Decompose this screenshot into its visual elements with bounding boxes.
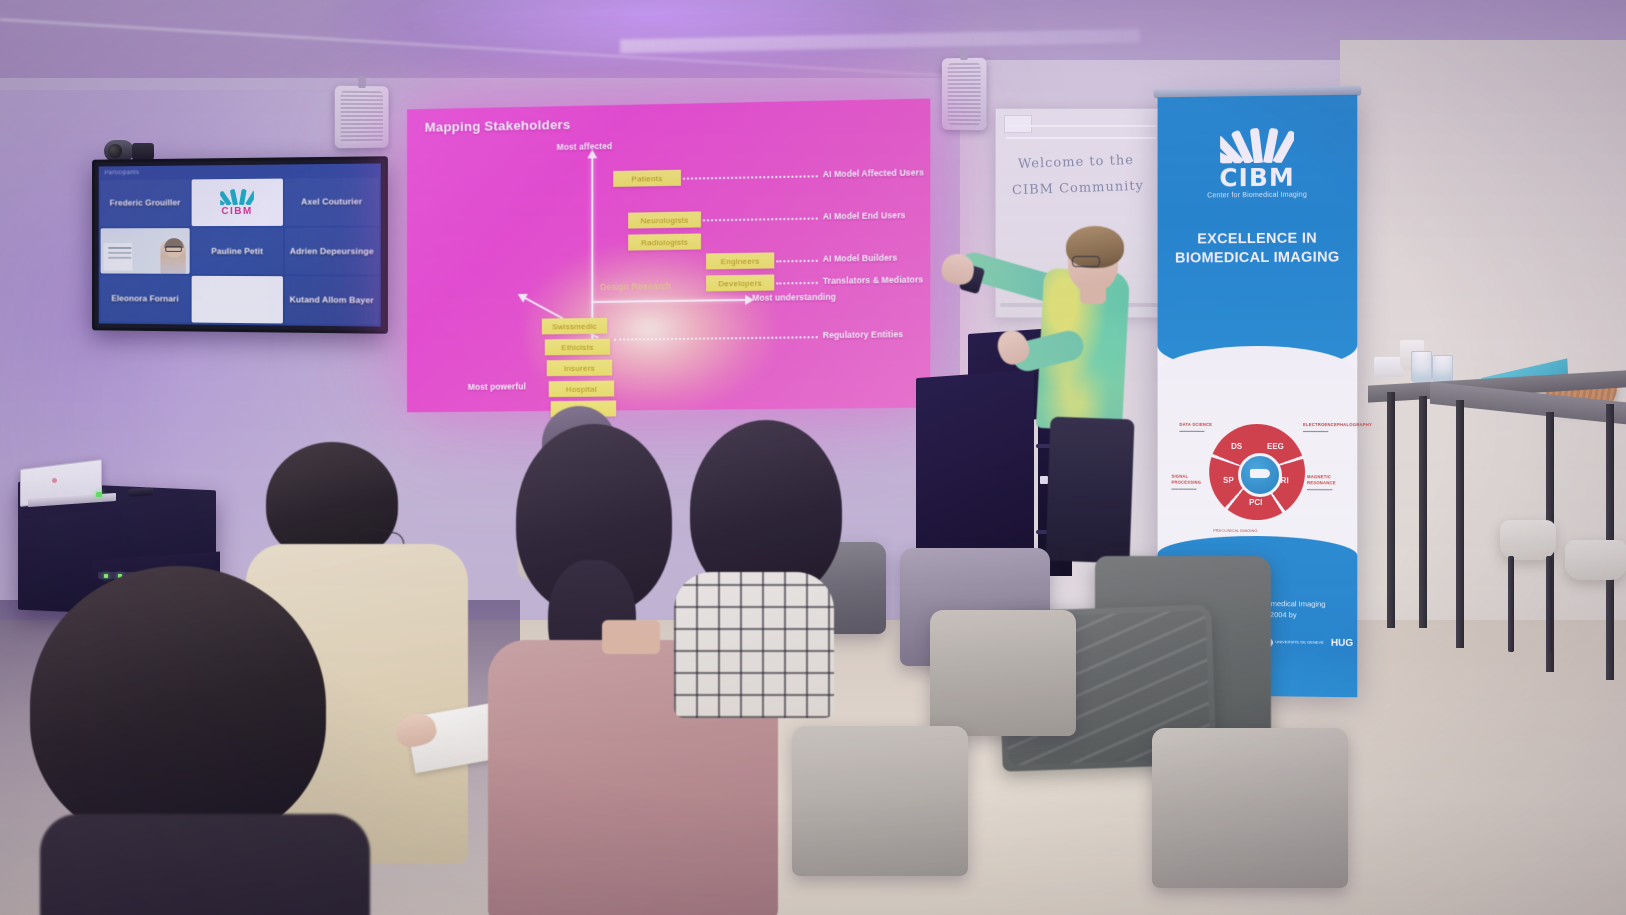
cibm-logo-subtitle: Center for Biomedical Imaging xyxy=(1207,192,1307,200)
document-lines xyxy=(108,247,131,249)
sticky-note-radiologists: Radiologists xyxy=(628,233,701,250)
category-label-affected-users: AI Model Affected Users xyxy=(823,167,924,179)
participant-name: Eleonora Fornari xyxy=(109,294,180,303)
speaker-mount xyxy=(358,76,366,88)
sticky-note-swissmedic: Swissmedic xyxy=(542,318,607,335)
participant-name: Pauline Petit xyxy=(209,247,265,256)
empty-chair[interactable] xyxy=(792,726,968,876)
wheel-label-pci: PCI xyxy=(1249,498,1262,507)
participant-tile[interactable]: Pauline Petit xyxy=(192,228,283,275)
high-table-leg xyxy=(1456,400,1464,648)
camera-lens-icon xyxy=(108,144,122,158)
leader-line-builders xyxy=(776,260,817,264)
high-table-leg xyxy=(1387,392,1395,628)
projected-slide: Mapping Stakeholders Most affected Most … xyxy=(407,99,930,413)
audience-neck xyxy=(602,620,660,654)
participant-tile[interactable]: Frederic Grouiller xyxy=(101,179,190,226)
sticky-note-engineers: Engineers xyxy=(706,252,774,269)
axis-label-most-affected: Most affected xyxy=(557,141,613,152)
cibm-arc-icon xyxy=(1220,126,1294,164)
bar-stool[interactable] xyxy=(1565,540,1626,580)
shared-document xyxy=(103,243,132,271)
participant-glasses-icon xyxy=(165,246,182,252)
leader-line-translators xyxy=(776,282,817,286)
ceiling-speaker-left xyxy=(335,86,389,149)
axis-vertical xyxy=(591,157,593,342)
category-label-builders: AI Model Builders xyxy=(823,253,897,264)
empty-chair[interactable] xyxy=(930,610,1076,736)
presenter-neck xyxy=(1080,284,1106,304)
cibm-arc-icon xyxy=(220,188,254,205)
category-label-regulatory: Regulatory Entities xyxy=(823,329,903,340)
bar-stool[interactable] xyxy=(1500,520,1556,560)
wheel-label-eeg: EEG xyxy=(1267,442,1284,451)
participant-tile-video[interactable]: Frederic Grouiller xyxy=(101,228,190,274)
banner-headline: EXCELLENCE IN BIOMEDICAL IMAGING xyxy=(1158,229,1358,268)
banner-headline-line1: EXCELLENCE IN xyxy=(1158,229,1358,249)
lectern-body xyxy=(916,370,1034,560)
sticky-note-ethicists: Ethicists xyxy=(545,339,610,356)
presenter-glasses-icon xyxy=(1072,256,1100,267)
laptop-screen-content xyxy=(52,478,57,483)
whiteboard-text-line2: CIBM Community xyxy=(1012,177,1145,201)
water-glass xyxy=(1411,351,1432,383)
whiteboard-sticky-note xyxy=(1004,115,1032,133)
partner-logo-hug: HUG xyxy=(1331,637,1353,648)
partner-logo-unige: UNIVERSITE DE GENEVE xyxy=(1264,638,1324,648)
participant-tile[interactable]: Adrien Depeursinge xyxy=(285,227,379,275)
sticky-note-developers: Developers xyxy=(706,274,774,291)
category-label-end-users: AI Model End Users xyxy=(823,210,906,221)
partner-logo-unige-label: UNIVERSITE DE GENEVE xyxy=(1275,640,1324,645)
audience-hair xyxy=(30,566,326,846)
wheel-label-sp: SP xyxy=(1223,476,1234,485)
speaker-mount xyxy=(960,48,968,60)
stool-leg xyxy=(1546,556,1552,652)
cibm-wordmark: CIBM xyxy=(1219,165,1294,191)
banner-caption-preclinical: PRECLINICAL IMAGING xyxy=(1213,528,1257,534)
banner-caption-eeg: ELECTROENCEPHALOGRAPHY ▬▬▬▬▬▬▬ xyxy=(1303,422,1349,434)
participant-tile[interactable]: Eleonora Fornari xyxy=(101,276,190,323)
axis-horizontal xyxy=(591,299,746,303)
sticky-note-insurers: Insurers xyxy=(547,360,612,377)
participant-tile-logo[interactable]: CIBM xyxy=(192,179,283,226)
banner-caption-mri: MAGNETIC RESONANCE ▬▬▬▬▬▬▬ xyxy=(1307,474,1353,493)
speaker-grille xyxy=(341,91,383,144)
stool-leg xyxy=(1508,556,1514,652)
design-research-label: Design Research xyxy=(600,281,671,292)
water-glass xyxy=(1432,355,1453,383)
participant-name: Kutand Allom Bayer xyxy=(288,296,376,306)
participant-grid: Frederic Grouiller CIBM xyxy=(99,176,381,327)
participant-name: Adrien Depeursinge xyxy=(288,247,376,256)
sticky-note-neurologists: Neurologists xyxy=(628,211,701,228)
audience-plaid-top xyxy=(674,572,834,718)
whiteboard-rail-upper xyxy=(1006,125,1156,127)
whiteboard-rail-lower xyxy=(1006,137,1156,139)
participant-name: Frederic Grouiller xyxy=(108,198,183,207)
wheel-hub-icon xyxy=(1238,453,1282,497)
video-call-screen[interactable]: Participants Frederic Grouiller xyxy=(99,163,381,326)
video-conference-display[interactable]: Participants Frederic Grouiller xyxy=(92,156,388,334)
slide-title: Mapping Stakeholders xyxy=(425,117,571,135)
cibm-logo: CIBM xyxy=(210,181,264,223)
leader-line-affected-users xyxy=(683,175,818,180)
caption-title: MAGNETIC RESONANCE xyxy=(1307,474,1353,486)
laptop-status-led xyxy=(96,492,102,497)
sticky-note-hospital: Hospital xyxy=(549,381,614,398)
banner-headline-line2: BIOMEDICAL IMAGING xyxy=(1158,248,1358,268)
leader-line-end-users xyxy=(703,218,818,223)
video-call-header: Participants xyxy=(104,170,139,176)
sticky-note-patients: Patients xyxy=(613,170,681,187)
audience-shoulders xyxy=(40,814,370,915)
conference-room-photo: Participants Frederic Grouiller xyxy=(0,0,1626,915)
participant-name: Axel Couturier xyxy=(299,197,364,206)
banner-logo-block: CIBM Center for Biomedical Imaging xyxy=(1158,125,1358,200)
pinned-participant-label: Frederic Grouiller xyxy=(104,230,144,236)
participant-tile-blank[interactable] xyxy=(192,276,283,323)
cibm-wordmark: CIBM xyxy=(221,206,252,217)
participant-tile[interactable]: Axel Couturier xyxy=(285,178,379,226)
av-rack-led xyxy=(104,574,108,578)
speaker-grille xyxy=(948,63,981,125)
participant-tile[interactable]: Kutand Allom Bayer xyxy=(285,277,379,325)
wheel-label-ds: DS xyxy=(1231,442,1242,451)
category-label-translators: Translators & Mediators xyxy=(823,274,924,285)
presenter-trousers xyxy=(1046,417,1135,564)
whiteboard-text-line1: Welcome to the xyxy=(1018,151,1135,175)
axis-label-most-understanding: Most understanding xyxy=(752,292,836,303)
cibm-modality-wheel: DS EEG MRI PCI SP xyxy=(1209,424,1305,520)
caption-title: ELECTROENCEPHALOGRAPHY xyxy=(1303,422,1349,428)
axis-label-most-powerful: Most powerful xyxy=(468,381,526,392)
high-table-leg xyxy=(1419,396,1427,628)
ceiling-speaker-right xyxy=(942,58,987,131)
av-cart-switch[interactable] xyxy=(1040,476,1048,484)
camera-arm xyxy=(132,143,154,160)
leader-line-regulatory xyxy=(614,336,817,341)
empty-chair[interactable] xyxy=(1152,728,1348,888)
